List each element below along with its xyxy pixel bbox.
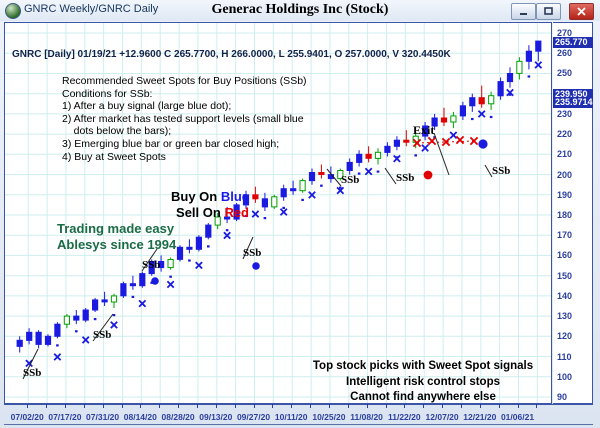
price-tick-label: 100: [553, 372, 593, 382]
buy-signal-dot: [478, 139, 487, 148]
date-tick-label: 09/27/20: [237, 412, 270, 422]
minimize-button[interactable]: [511, 3, 536, 20]
sell-signal-dot: [424, 171, 433, 180]
date-tick-minor: [536, 404, 537, 408]
date-tick: [329, 404, 330, 408]
maximize-button[interactable]: [536, 3, 561, 20]
axis-bottom-line: [4, 424, 593, 425]
red-word: Red: [224, 205, 249, 220]
date-tick: [291, 404, 292, 408]
date-tick-label: 11/08/20: [350, 412, 383, 422]
sell-on-text: Sell On: [176, 205, 224, 220]
blue-word: Blue: [221, 189, 249, 204]
buy-on-text: Buy On: [171, 189, 221, 204]
price-tick-label: 160: [553, 250, 593, 260]
quote-line: GNRC [Daily] 01/19/21 +12.9600 C 265.770…: [12, 49, 451, 60]
date-tick: [404, 404, 405, 408]
price-tick-label: 210: [553, 149, 593, 159]
date-tick-label: 07/17/20: [48, 412, 81, 422]
price-tick-label: 170: [553, 230, 593, 240]
slogan-line-3: Trading made easy: [57, 221, 249, 237]
exit-annotation-label: Exit: [413, 123, 434, 138]
slogan-text: Buy On Blue Sell On Red Trading made eas…: [57, 189, 249, 253]
page-title: Generac Holdings Inc (Stock): [0, 2, 600, 18]
date-tick-label: 12/21/20: [463, 412, 496, 422]
date-tick: [442, 404, 443, 408]
axis-top-line: [4, 404, 593, 405]
date-tick-label: 08/14/20: [124, 412, 157, 422]
buy-signal-dot: [252, 262, 260, 270]
date-tick-label: 11/22/20: [388, 412, 421, 422]
title-bar: GNRC Weekly/GNRC Daily Generac Holdings …: [0, 0, 600, 21]
slogan-line-2: Sell On Red: [57, 205, 249, 221]
date-tick-minor: [122, 404, 123, 408]
price-axis: 2702602502402302202102001901801701601501…: [553, 22, 593, 404]
price-tick-label: 190: [553, 190, 593, 200]
date-tick-label: 01/06/21: [501, 412, 534, 422]
date-tick: [65, 404, 66, 408]
date-tick-minor: [423, 404, 424, 408]
price-tick-label: 200: [553, 170, 593, 180]
date-tick-minor: [197, 404, 198, 408]
date-tick-minor: [272, 404, 273, 408]
price-tick-label: 120: [553, 331, 593, 341]
date-tick-minor: [310, 404, 311, 408]
slogan-line-4: Ablesys since 1994: [57, 237, 249, 253]
date-tick-minor: [386, 404, 387, 408]
close-button[interactable]: [569, 3, 594, 20]
date-tick: [27, 404, 28, 408]
price-tick-label: 250: [553, 68, 593, 78]
chart-plot-area[interactable]: GNRC [Daily] 01/19/21 +12.9600 C 265.770…: [4, 22, 552, 404]
ssb-annotation-label: SSb: [142, 259, 160, 271]
ssb-annotation-label: SSb: [23, 367, 41, 379]
buy-signal-dot: [151, 277, 159, 285]
price-tick-label: 230: [553, 109, 593, 119]
date-tick-minor: [235, 404, 236, 408]
price-tick-label: 90: [553, 392, 593, 402]
price-tick-label: 130: [553, 311, 593, 321]
ssb-annotation-label: SSb: [93, 329, 111, 341]
date-axis: 07/02/2007/17/2007/31/2008/14/2008/28/20…: [4, 404, 593, 426]
date-tick: [103, 404, 104, 408]
date-tick-minor: [499, 404, 500, 408]
promo-line-1: Top stock picks with Sweet Spot signals: [281, 359, 552, 375]
sweet-spot-conditions-text: Recommended Sweet Spots for Buy Position…: [62, 75, 307, 163]
date-tick-minor: [348, 404, 349, 408]
promo-text: Top stock picks with Sweet Spot signals …: [281, 359, 552, 404]
chart-window: GNRC Weekly/GNRC Daily Generac Holdings …: [0, 0, 600, 428]
ssb-annotation-label: SSb: [492, 165, 510, 177]
date-tick-label: 08/28/20: [162, 412, 195, 422]
date-tick: [518, 404, 519, 408]
ssb-annotation-label: SSb: [243, 247, 261, 259]
price-tick-label: 110: [553, 352, 593, 362]
promo-line-2: Intelligent risk control stops: [281, 375, 552, 391]
price-highlight-tag: 265.770: [553, 37, 593, 48]
ssb-annotation-label: SSb: [396, 172, 414, 184]
date-tick: [254, 404, 255, 408]
date-tick-minor: [84, 404, 85, 408]
price-highlight-tag: 235.9714: [553, 97, 593, 108]
date-tick-label: 12/07/20: [426, 412, 459, 422]
date-tick-minor: [159, 404, 160, 408]
date-tick-label: 10/11/20: [275, 412, 308, 422]
price-tick-label: 260: [553, 48, 593, 58]
date-tick-label: 07/02/20: [11, 412, 44, 422]
date-tick-label: 09/13/20: [199, 412, 232, 422]
date-tick-minor: [461, 404, 462, 408]
date-tick: [216, 404, 217, 408]
price-tick-label: 150: [553, 271, 593, 281]
promo-line-3: Cannot find anywhere else: [281, 390, 552, 404]
price-tick-label: 180: [553, 210, 593, 220]
price-tick-label: 140: [553, 291, 593, 301]
date-tick-minor: [46, 404, 47, 408]
slogan-line-1: Buy On Blue: [57, 189, 249, 205]
date-tick: [480, 404, 481, 408]
date-tick-label: 07/31/20: [86, 412, 119, 422]
date-tick: [140, 404, 141, 408]
date-tick: [367, 404, 368, 408]
price-tick-label: 220: [553, 129, 593, 139]
date-tick: [178, 404, 179, 408]
ssb-annotation-label: SSb: [341, 174, 359, 186]
date-tick-label: 10/25/20: [312, 412, 345, 422]
